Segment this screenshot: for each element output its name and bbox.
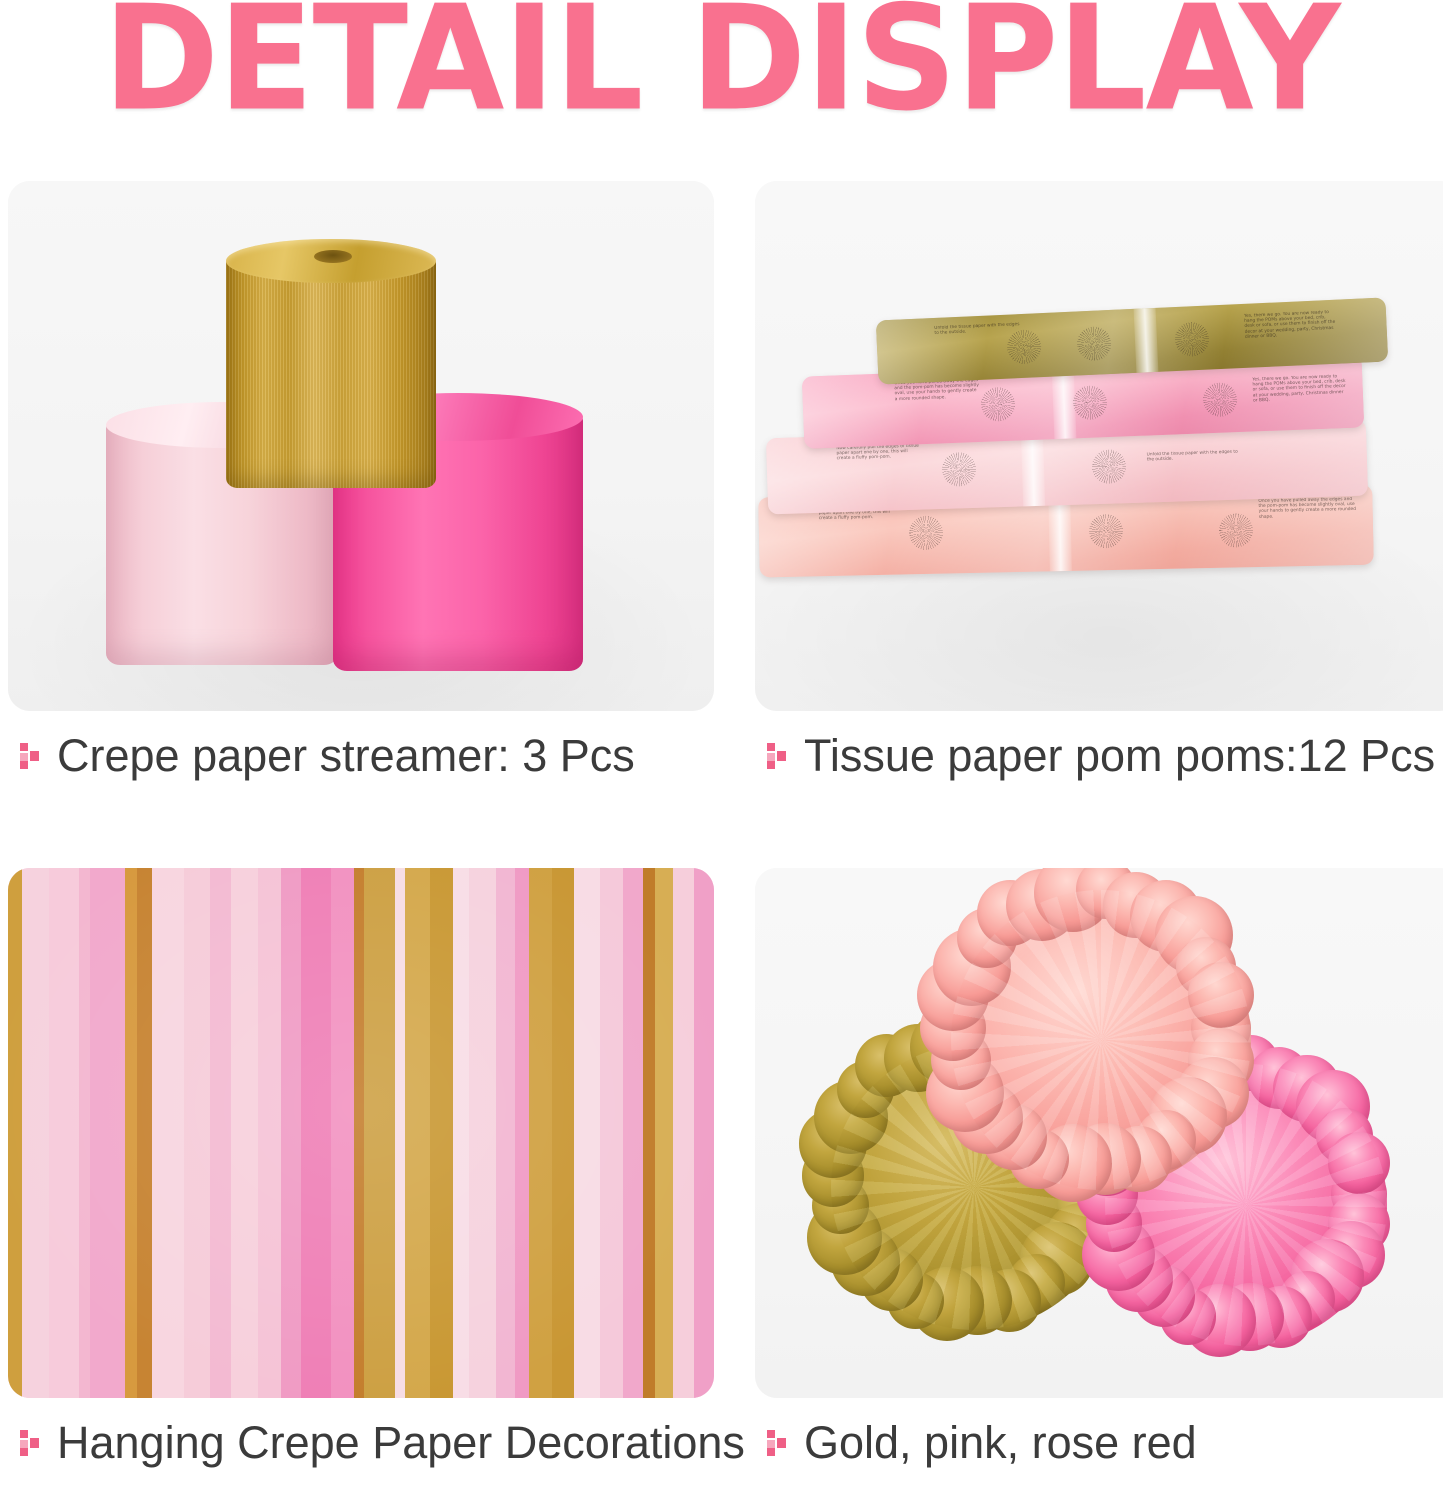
feature-cell-crepe-paper-streamer: Crepe paper streamer: 3 Pcs <box>8 181 714 801</box>
caption-color-list: Gold, pink, rose red <box>755 1398 1443 1488</box>
streamer-stripe <box>529 868 552 1398</box>
streamer-stripe <box>184 868 211 1398</box>
streamer-stripe <box>515 868 529 1398</box>
streamer-stripe <box>395 868 406 1398</box>
streamer-stripe <box>152 868 184 1398</box>
streamer-stripe <box>552 868 573 1398</box>
feature-cell-color-list: Gold, pink, rose red <box>755 868 1443 1488</box>
streamer-stripe <box>469 868 496 1398</box>
feature-cell-hanging-crepe-paper-decorations: Hanging Crepe Paper Decorations <box>8 868 714 1488</box>
streamer-stripe <box>125 868 137 1398</box>
photo-tissue-paper-pom-pom-colors <box>755 868 1443 1398</box>
streamer-stripe <box>210 868 231 1398</box>
pink-arrow-bullet-icon <box>767 743 786 769</box>
package-instructions: Once you have pulled away the edges and … <box>1258 497 1358 520</box>
streamer-stripe <box>453 868 469 1398</box>
package-instructions: Yes, there we go. You are now ready to h… <box>1252 374 1349 404</box>
streamer-stripe <box>301 868 331 1398</box>
caption-text: Tissue paper pom poms:12 Pcs <box>804 730 1435 782</box>
crepe-roll-gold <box>226 253 436 488</box>
streamer-stripe <box>430 868 453 1398</box>
streamer-stripe <box>331 868 354 1398</box>
streamer-stripe <box>90 868 125 1398</box>
streamer-stripe <box>496 868 516 1398</box>
feature-grid: Crepe paper streamer: 3 Pcs Now carefull… <box>0 118 1443 1500</box>
page-title: DETAIL DISPLAY <box>103 0 1340 118</box>
streamer-stripe <box>673 868 694 1398</box>
banner: DETAIL DISPLAY <box>0 0 1443 118</box>
caption-tissue-paper-pom-poms: Tissue paper pom poms:12 Pcs <box>755 711 1443 801</box>
detail-display-page: DETAIL DISPLAY <box>0 0 1443 1500</box>
photo-crepe-paper-streamer <box>8 181 714 711</box>
streamer-stripe <box>364 868 394 1398</box>
streamer-stripe <box>694 868 714 1398</box>
streamer-stripe <box>643 868 655 1398</box>
streamer-stripe <box>22 868 49 1398</box>
caption-crepe-paper-streamer: Crepe paper streamer: 3 Pcs <box>8 711 714 801</box>
caption-text: Gold, pink, rose red <box>804 1417 1197 1469</box>
streamer-stripe <box>655 868 673 1398</box>
streamer-stripe <box>8 868 22 1398</box>
streamer-stripe <box>405 868 430 1398</box>
roll-core-hole <box>314 250 352 263</box>
feature-cell-tissue-paper-pom-poms: Now carefully pull the edges of tissue p… <box>755 181 1443 801</box>
pink-arrow-bullet-icon <box>20 1430 39 1456</box>
caption-text: Crepe paper streamer: 3 Pcs <box>57 730 635 782</box>
streamer-stripe <box>600 868 623 1398</box>
pink-arrow-bullet-icon <box>767 1430 786 1456</box>
streamer-stripe <box>231 868 258 1398</box>
photo-hanging-crepe-paper-decorations <box>8 868 714 1398</box>
streamer-stripe <box>49 868 79 1398</box>
streamer-stripe <box>623 868 643 1398</box>
pom-pom-pink <box>951 890 1251 1190</box>
caption-text: Hanging Crepe Paper Decorations <box>57 1417 745 1469</box>
streamer-stripe <box>574 868 601 1398</box>
package-instructions: Yes, there we go. You are now ready to h… <box>1244 310 1337 340</box>
photo-tissue-paper-pom-poms: Now carefully pull the edges of tissue p… <box>755 181 1443 711</box>
streamer-stripe <box>354 868 365 1398</box>
caption-hanging-crepe-paper-decorations: Hanging Crepe Paper Decorations <box>8 1398 714 1488</box>
streamer-stripe <box>137 868 151 1398</box>
pink-arrow-bullet-icon <box>20 743 39 769</box>
streamer-stripes <box>8 868 714 1398</box>
streamer-stripe <box>281 868 301 1398</box>
streamer-stripe <box>79 868 90 1398</box>
streamer-stripe <box>258 868 281 1398</box>
